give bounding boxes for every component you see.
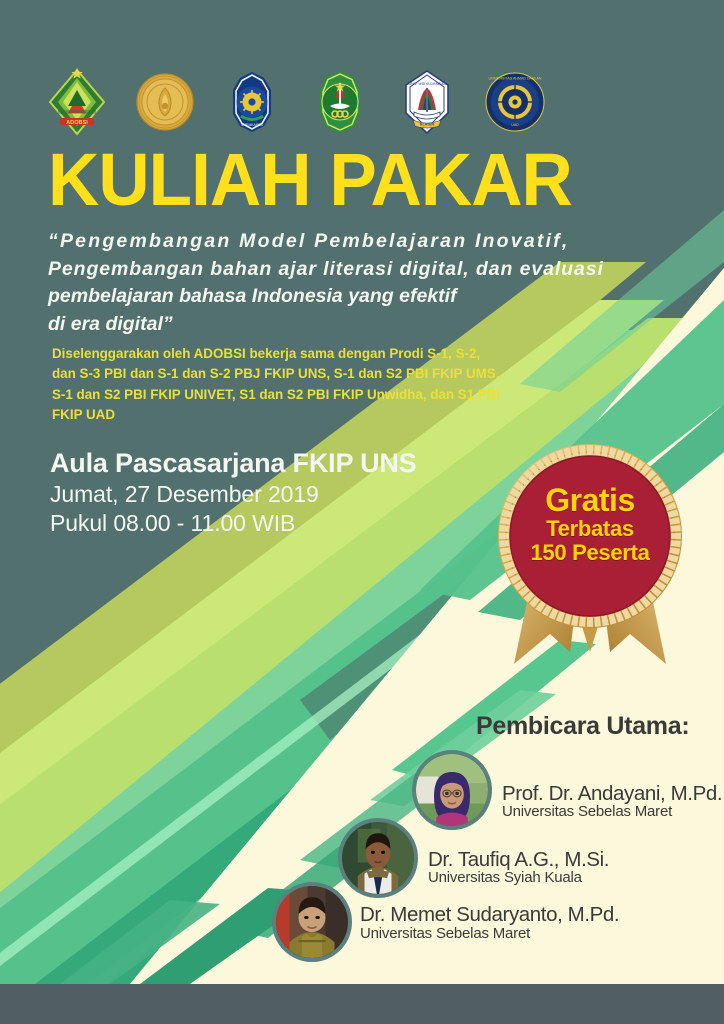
speaker-photo-andayani xyxy=(412,750,492,830)
subtitle-line-3: pembelajaran bahasa Indonesia yang efekt… xyxy=(48,283,648,311)
badge-line-gratis: Gratis xyxy=(492,484,688,517)
subtitle-line-4: di era digital” xyxy=(48,311,648,339)
speakers-heading: Pembicara Utama: xyxy=(476,712,689,741)
svg-text:KLATEN: KLATEN xyxy=(420,123,435,127)
svg-text:UNIVERSITAS AHMAD DAHLAN: UNIVERSITAS AHMAD DAHLAN xyxy=(488,77,541,81)
poster-subtitle: “Pengembangan Model Pembelajaran Inovati… xyxy=(48,228,648,339)
svg-text:ADOBSI: ADOBSI xyxy=(66,120,88,126)
organizer-line-1: Diselenggarakan oleh ADOBSI bekerja sama… xyxy=(52,344,542,364)
speaker-photo-taufiq xyxy=(338,818,418,898)
speaker-affiliation: Universitas Sebelas Maret xyxy=(360,925,530,942)
speaker-affiliation: Universitas Sebelas Maret xyxy=(502,803,672,820)
uad-logo: UNIVERSITAS AHMAD DAHLAN UAD xyxy=(484,66,546,138)
organizer-line-3: S-1 dan S2 PBI FKIP UNIVET, S1 dan S2 PB… xyxy=(52,385,542,405)
univet-bantara-logo xyxy=(309,66,371,138)
speaker-affiliation: Universitas Syiah Kuala xyxy=(428,869,582,886)
subtitle-line-1: “Pengembangan Model Pembelajaran Inovati… xyxy=(48,228,648,256)
badge-text-block: Gratis Terbatas 150 Peserta xyxy=(492,484,688,566)
svg-text:UAD: UAD xyxy=(511,123,519,127)
badge-line-kuota: 150 Peserta xyxy=(492,541,688,566)
event-details: Aula Pascasarjana FKIP UNS Jumat, 27 Des… xyxy=(50,448,416,539)
poster-title: KULIAH PAKAR xyxy=(48,143,572,217)
poster-root: ADOBSI xyxy=(0,0,724,1024)
widya-dharma-logo: UNIV. WIDYA DHARMA KLATEN xyxy=(396,66,458,138)
event-date: Jumat, 27 Desember 2019 xyxy=(50,480,416,509)
organizer-line-2: dan S-3 PBI dan S-1 dan S-2 PBJ FKIP UNS… xyxy=(52,364,542,384)
svg-text:UNIV. WIDYA DHARMA: UNIV. WIDYA DHARMA xyxy=(409,82,447,86)
svg-text:SURAKARTA: SURAKARTA xyxy=(241,123,263,127)
badge-line-terbatas: Terbatas xyxy=(492,517,688,542)
organizer-block: Diselenggarakan oleh ADOBSI bekerja sama… xyxy=(52,344,542,426)
logo-row: ADOBSI xyxy=(46,64,546,140)
event-venue: Aula Pascasarjana FKIP UNS xyxy=(50,448,416,480)
speaker-photo-memet xyxy=(272,882,352,962)
gratis-badge: Gratis Terbatas 150 Peserta xyxy=(492,438,688,668)
uns-logo xyxy=(134,66,196,138)
adobsi-logo: ADOBSI xyxy=(46,66,108,138)
organizer-line-4: FKIP UAD xyxy=(52,405,542,425)
subtitle-line-2: Pengembangan bahan ajar literasi digital… xyxy=(48,256,648,284)
event-time: Pukul 08.00 - 11.00 WIB xyxy=(50,509,416,538)
speaker-name: Dr. Memet Sudaryanto, M.Pd. xyxy=(360,903,619,927)
ums-logo: SURAKARTA xyxy=(221,66,283,138)
